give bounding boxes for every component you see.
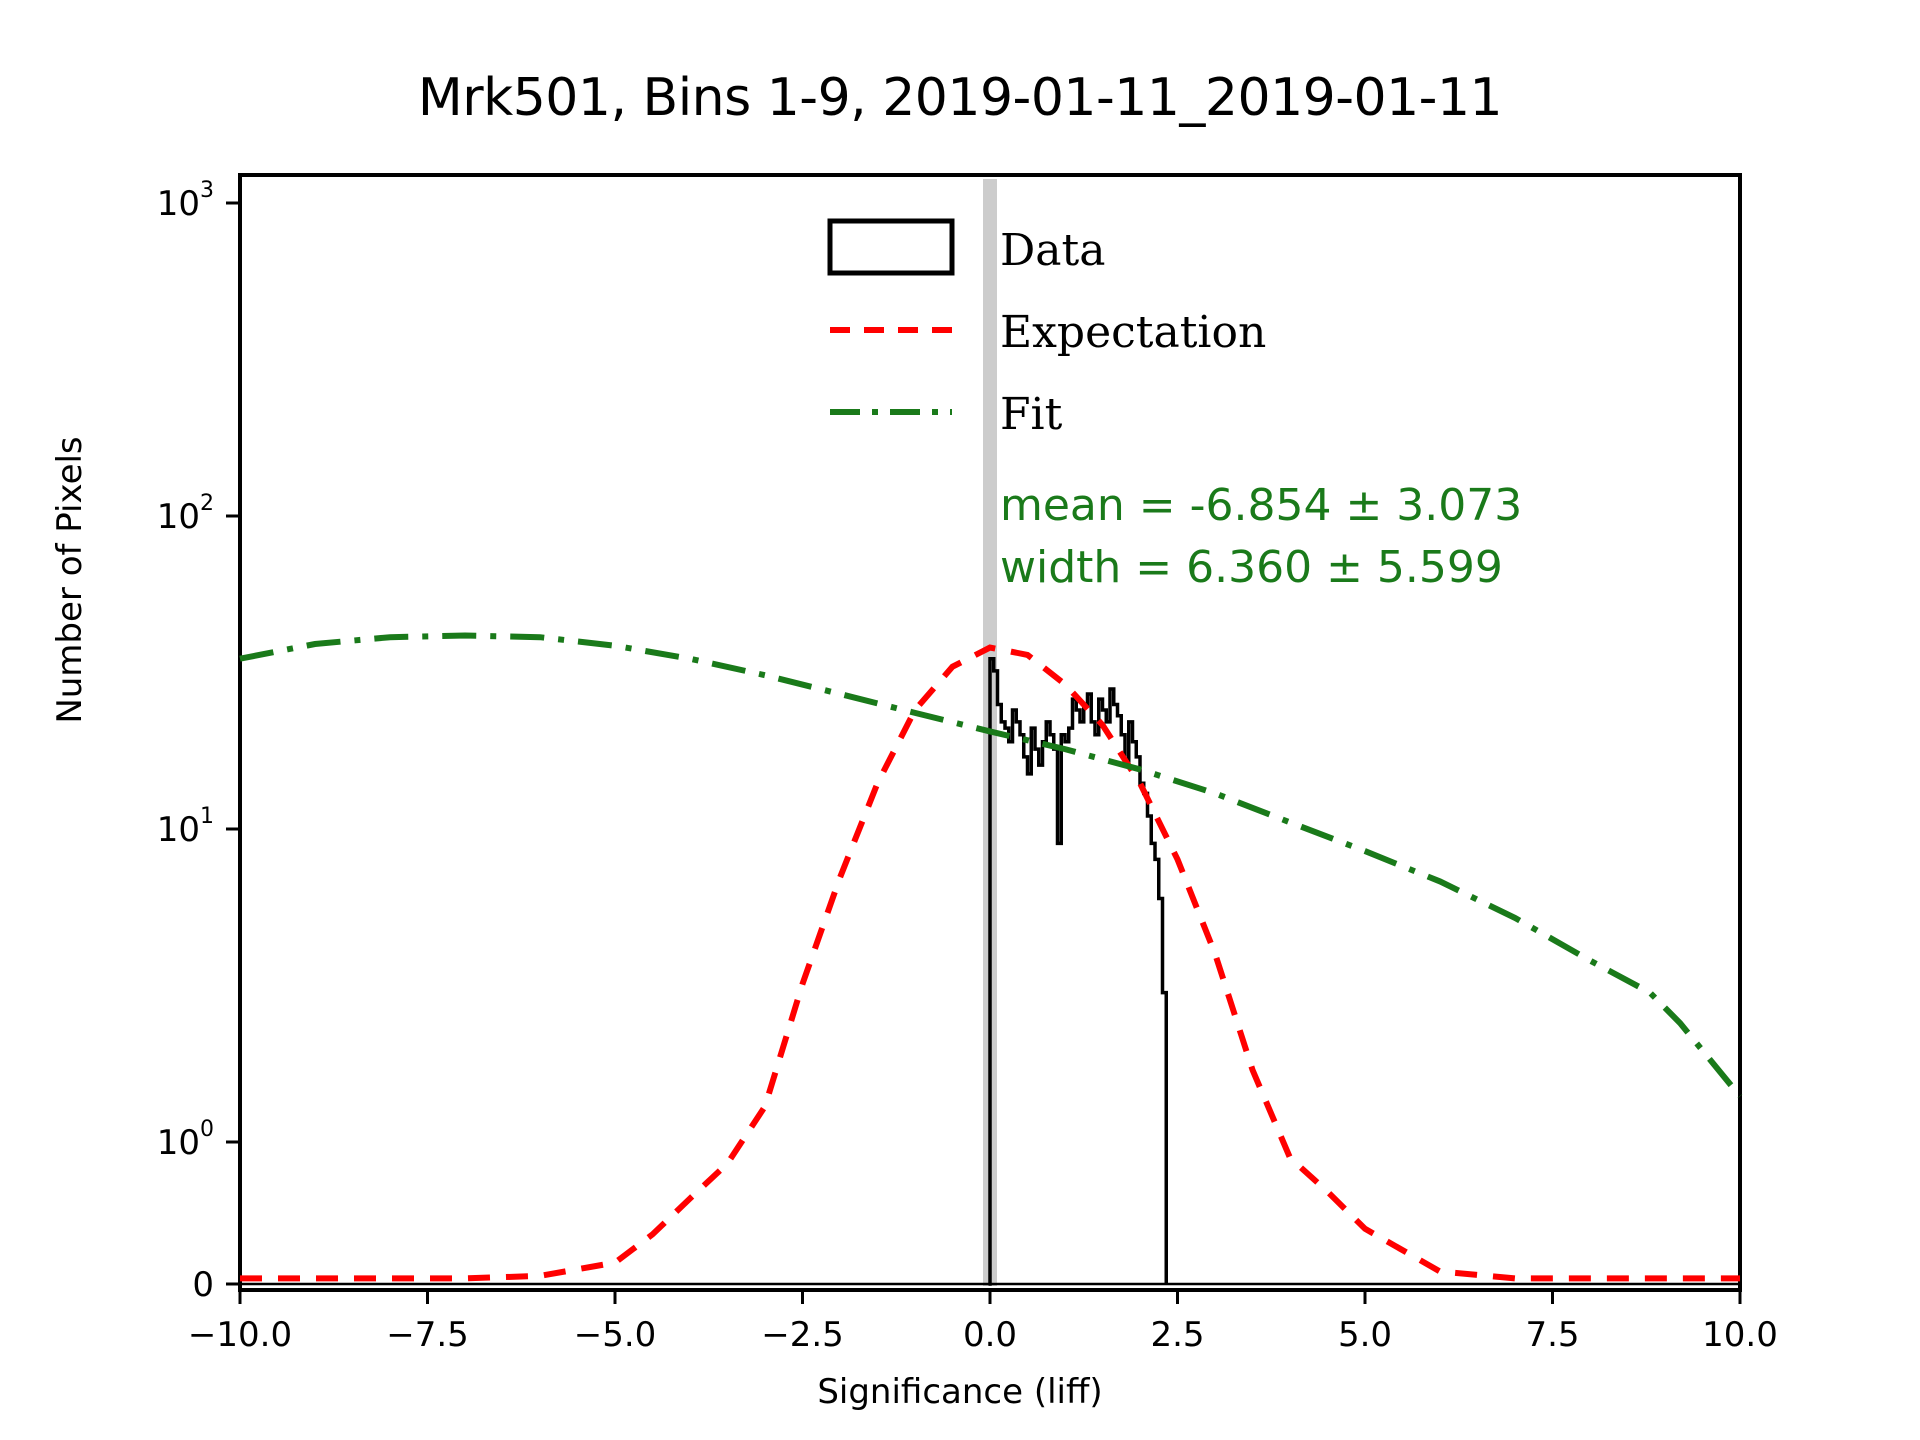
x-tick-label: −10.0 — [188, 1315, 292, 1355]
chart-plot-area: 0100101102103 −10.0−7.5−5.0−2.50.02.55.0… — [0, 0, 1920, 1440]
y-tick-label: 102 — [157, 491, 214, 537]
x-tick-label: 0.0 — [963, 1315, 1017, 1355]
legend-swatch-box — [830, 221, 952, 273]
y-tick-label: 103 — [157, 178, 214, 224]
x-tick-label: −2.5 — [761, 1315, 844, 1355]
y-axis-ticks: 0100101102103 — [157, 178, 240, 1305]
legend-label: Expectation — [1000, 307, 1266, 358]
x-axis-label: Significance (liff) — [0, 1372, 1920, 1412]
legend-label: Fit — [1000, 389, 1063, 440]
y-tick-label: 0 — [192, 1265, 214, 1305]
x-tick-label: 7.5 — [1525, 1315, 1579, 1355]
legend-label: Data — [1000, 225, 1105, 276]
figure-canvas: Mrk501, Bins 1-9, 2019-01-11_2019-01-11 … — [0, 0, 1920, 1440]
y-tick-label: 101 — [157, 804, 214, 850]
x-tick-label: 2.5 — [1150, 1315, 1204, 1355]
x-tick-label: −7.5 — [386, 1315, 469, 1355]
x-tick-label: −5.0 — [574, 1315, 657, 1355]
fit-stat-line: width = 6.360 ± 5.599 — [1000, 542, 1503, 593]
x-tick-label: 10.0 — [1702, 1315, 1778, 1355]
page-title: Mrk501, Bins 1-9, 2019-01-11_2019-01-11 — [0, 68, 1920, 128]
y-tick-label: 100 — [157, 1117, 214, 1163]
y-axis-label: Number of Pixels — [50, 280, 90, 880]
x-axis-ticks: −10.0−7.5−5.0−2.50.02.55.07.510.0 — [188, 1290, 1778, 1355]
x-tick-label: 5.0 — [1338, 1315, 1392, 1355]
fit-stat-line: mean = -6.854 ± 3.073 — [1000, 480, 1522, 531]
